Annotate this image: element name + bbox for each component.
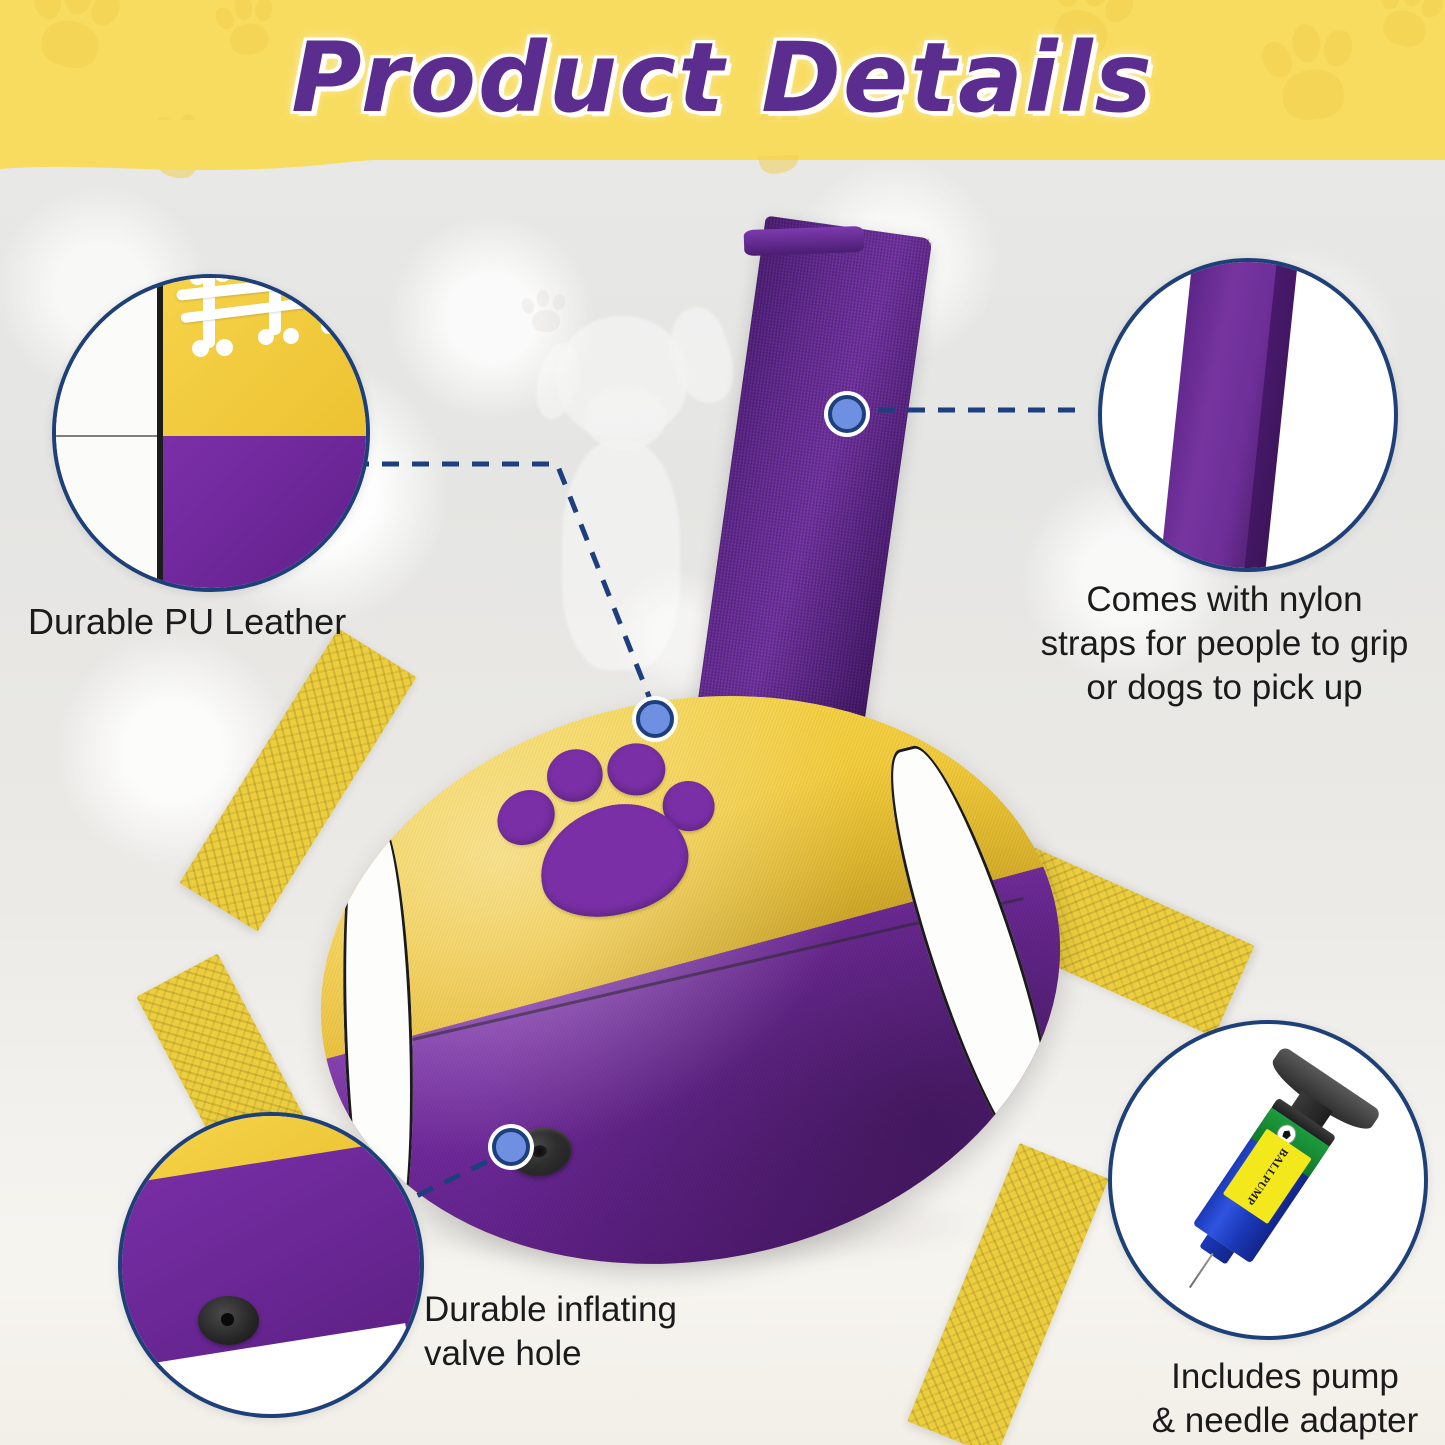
callout-circle-nylon-strap bbox=[1098, 258, 1398, 572]
marker-dot-valve bbox=[492, 1128, 530, 1166]
callout-label-line: & needle adapter bbox=[1125, 1399, 1445, 1443]
page-title: Product Details bbox=[0, 26, 1445, 130]
callout-label-line: straps for people to grip bbox=[1012, 622, 1437, 666]
lace-bones-icon bbox=[154, 274, 370, 382]
callout-circle-pump: BALLPUMP bbox=[1108, 1020, 1428, 1340]
connector-line-pu-leather bbox=[352, 452, 682, 712]
product-details-image: Product Details bbox=[0, 0, 1445, 1445]
callout-label-line: Comes with nylon bbox=[1012, 578, 1437, 622]
marker-dot-pu-leather bbox=[636, 700, 674, 738]
callout-label-pu-leather: Durable PU Leather bbox=[28, 600, 346, 643]
callout-circle-valve-hole bbox=[118, 1112, 424, 1418]
callout-label-line: or dogs to pick up bbox=[1012, 666, 1437, 710]
callout-label-line: Durable inflating bbox=[424, 1288, 754, 1332]
callout-label-valve-hole: Durable inflating valve hole bbox=[424, 1288, 754, 1376]
purple-strap-top-edge bbox=[744, 226, 865, 256]
connector-line-nylon-strap bbox=[848, 400, 1080, 420]
marker-dot-nylon-strap bbox=[828, 395, 866, 433]
callout-circle-pu-leather bbox=[52, 274, 370, 592]
callout-label-nylon-strap: Comes with nylon straps for people to gr… bbox=[1012, 578, 1437, 710]
callout-label-line: valve hole bbox=[424, 1332, 754, 1376]
pump-label-text: BALLPUMP bbox=[1244, 1146, 1291, 1207]
pump-needle-adapter bbox=[1189, 1253, 1214, 1288]
valve-closeup-icon bbox=[198, 1296, 259, 1345]
callout-label-pump: Includes pump & needle adapter bbox=[1125, 1355, 1445, 1443]
callout-label-line: Includes pump bbox=[1125, 1355, 1445, 1399]
ball-pump-icon: BALLPUMP bbox=[1120, 1027, 1410, 1332]
ghost-paw-icon bbox=[520, 290, 574, 334]
